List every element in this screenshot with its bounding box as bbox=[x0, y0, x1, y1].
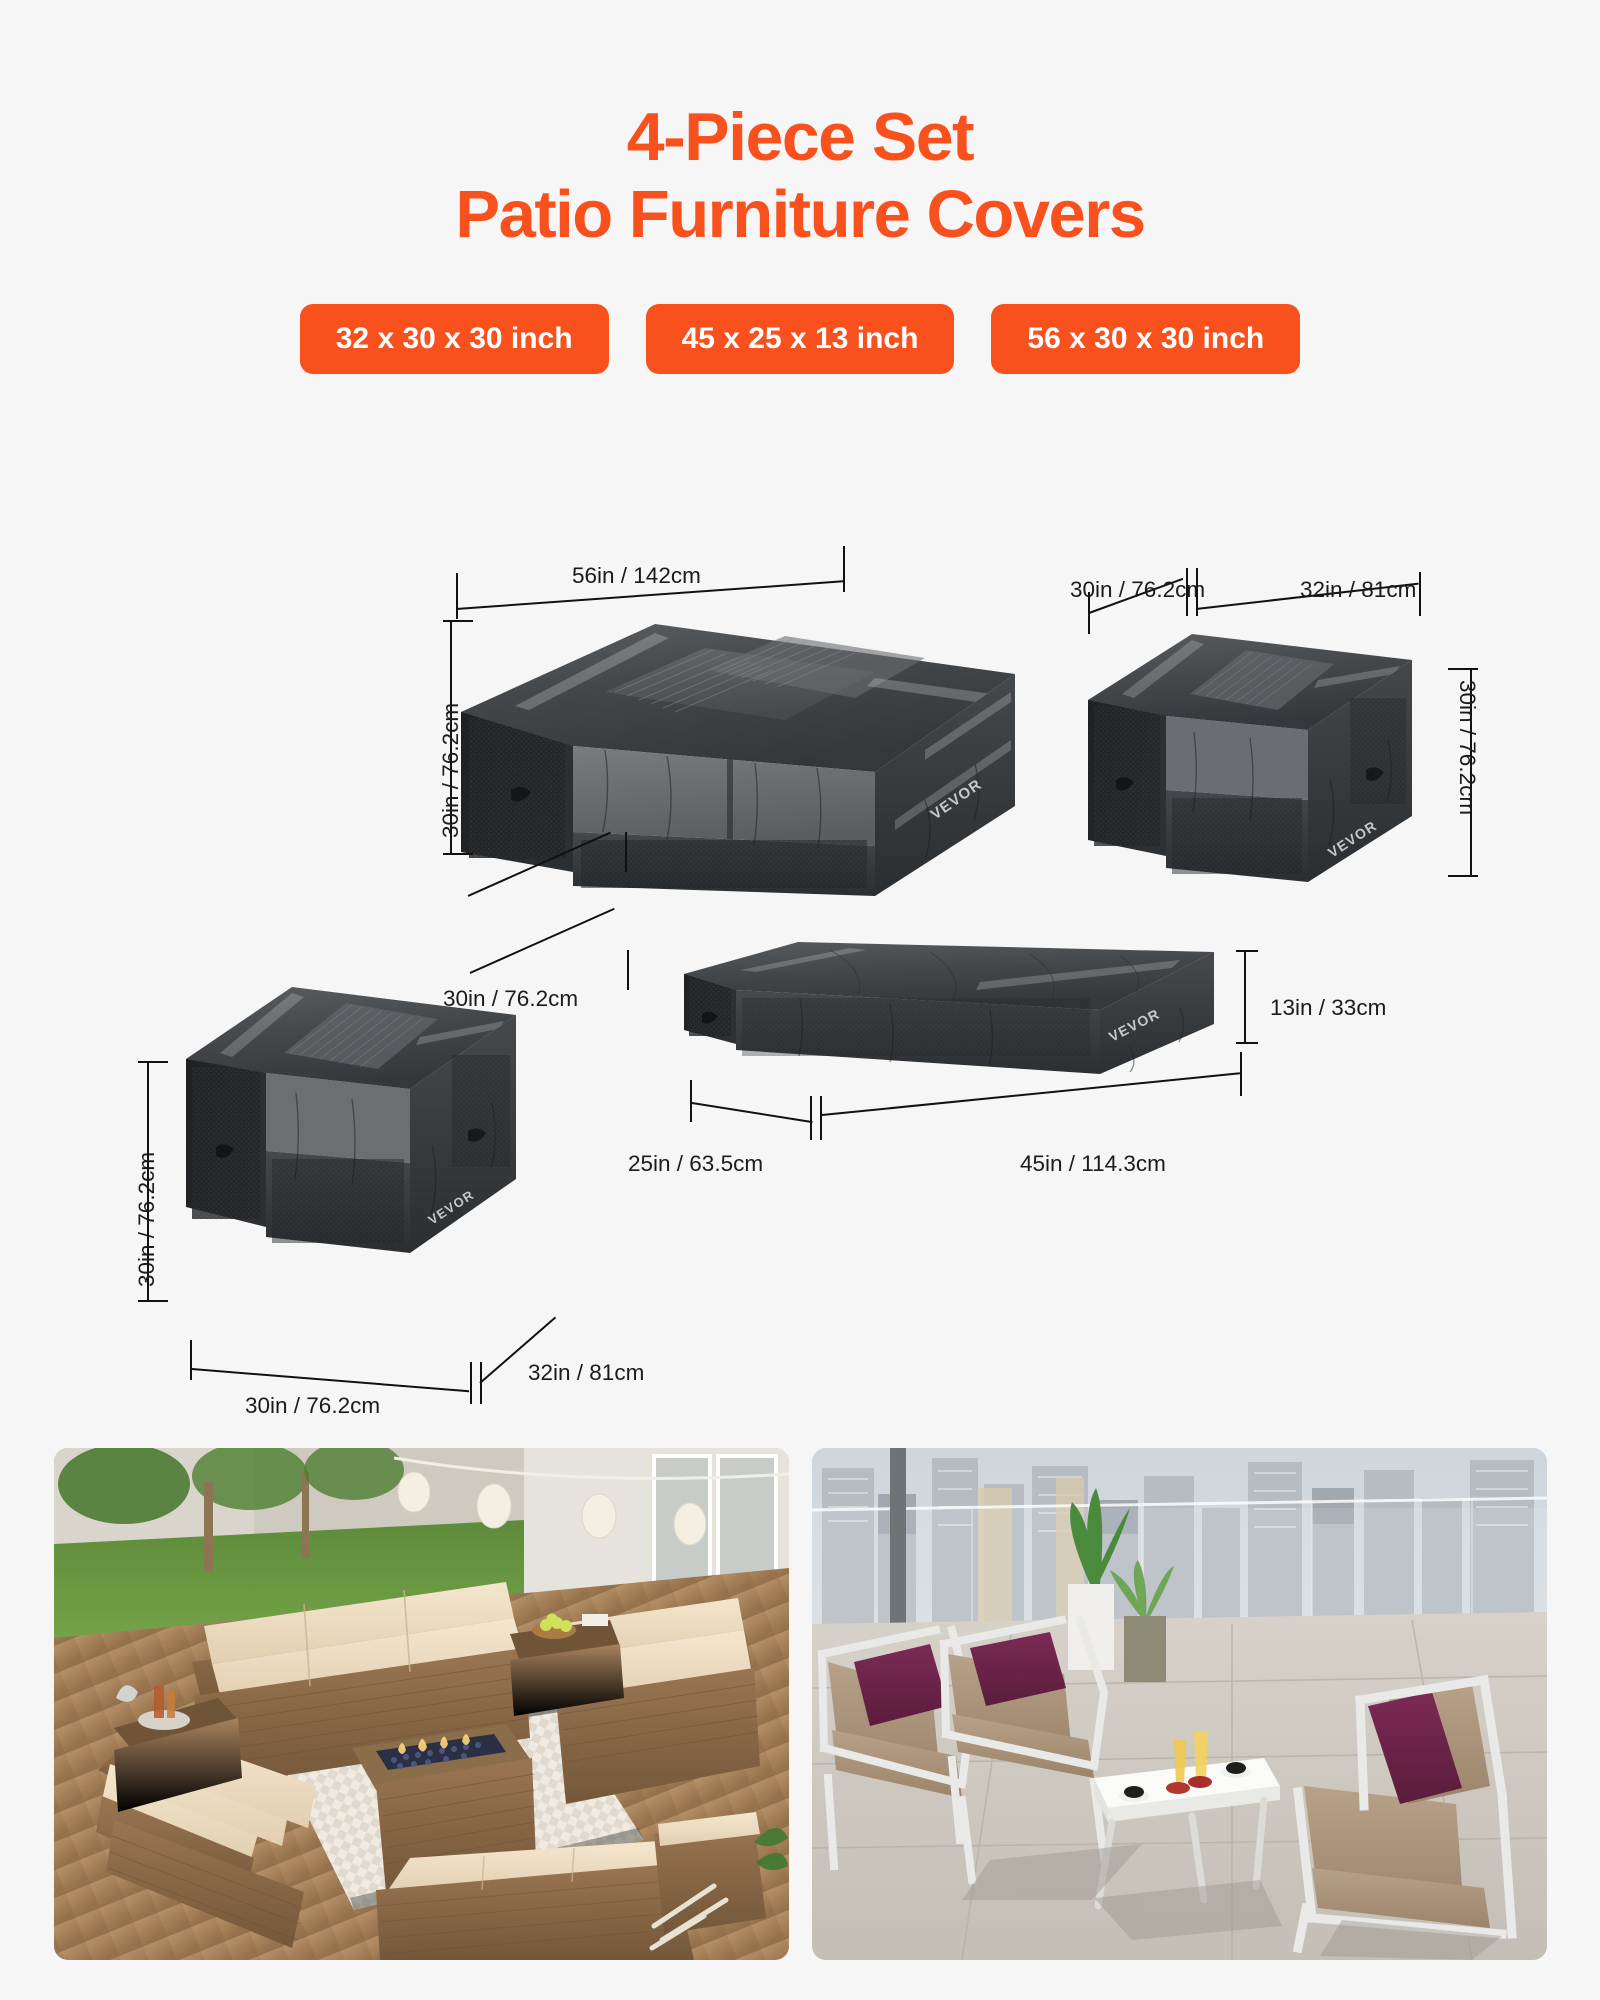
table-height-label: 13in / 33cm bbox=[1270, 995, 1386, 1021]
loveseat-depth-tick-2 bbox=[627, 950, 629, 990]
chair-right-height-tick-bottom bbox=[1448, 875, 1478, 877]
loveseat-width-tick-right bbox=[843, 546, 845, 592]
title-line-2: Patio Furniture Covers bbox=[0, 176, 1600, 254]
lifestyle-photo-row bbox=[0, 1448, 1600, 1960]
loveseat-width-label: 56in / 142cm bbox=[572, 563, 701, 589]
table-width-tick-right bbox=[1240, 1052, 1242, 1096]
size-badge-1: 32 x 30 x 30 inch bbox=[300, 304, 609, 374]
table-mid-tick-a bbox=[810, 1096, 812, 1140]
chair-right-depth-label: 30in / 76.2cm bbox=[1070, 577, 1205, 603]
photo-wicker-patio-set bbox=[54, 1448, 789, 1960]
loveseat-height-label: 30in / 76.2cm bbox=[438, 703, 464, 838]
loveseat-height-tick-top bbox=[443, 620, 473, 622]
table-height-tick-bottom bbox=[1236, 1042, 1258, 1044]
size-badge-2: 45 x 25 x 13 inch bbox=[646, 304, 955, 374]
chair-left-depth-label: 32in / 81cm bbox=[528, 1360, 644, 1386]
chair-right-width-label: 32in / 81cm bbox=[1300, 577, 1416, 603]
chair-cover-right: VEVOR bbox=[1082, 620, 1422, 910]
chair-right-height-tick-top bbox=[1448, 668, 1478, 670]
chair-left-width-label: 30in / 76.2cm bbox=[245, 1393, 380, 1419]
loveseat-height-tick-bottom bbox=[443, 853, 473, 855]
table-width-label: 45in / 114.3cm bbox=[1020, 1151, 1166, 1177]
loveseat-depth-tick bbox=[625, 832, 627, 872]
title-line-1: 4-Piece Set bbox=[0, 98, 1600, 176]
size-badge-3: 56 x 30 x 30 inch bbox=[991, 304, 1300, 374]
loveseat-cover: VEVOR bbox=[455, 600, 1035, 900]
page-title: 4-Piece Set Patio Furniture Covers bbox=[0, 0, 1600, 254]
chair-left-w-tick-l bbox=[190, 1340, 192, 1380]
loveseat-depth-line-2 bbox=[470, 908, 615, 974]
dimension-diagram: VEVOR 56in / 142cm 30in / 76.2cm 30in / … bbox=[0, 520, 1600, 1440]
chair-left-height-label: 30in / 76.2cm bbox=[134, 1152, 160, 1287]
table-height-tick-top bbox=[1236, 950, 1258, 952]
chair-cover-left: VEVOR bbox=[180, 975, 560, 1305]
loveseat-width-tick-left bbox=[456, 573, 458, 619]
chair-left-height-tick-top bbox=[138, 1061, 168, 1063]
size-badge-row: 32 x 30 x 30 inch 45 x 25 x 13 inch 56 x… bbox=[0, 304, 1600, 374]
photo-rooftop-terrace-set bbox=[812, 1448, 1547, 1960]
chair-left-width-line bbox=[192, 1368, 469, 1392]
chair-left-height-tick-bottom bbox=[138, 1300, 168, 1302]
table-height-line bbox=[1244, 950, 1246, 1044]
chair-left-mid-tick-a bbox=[470, 1362, 472, 1404]
chair-right-width-tick-right bbox=[1419, 572, 1421, 616]
table-depth-label: 25in / 63.5cm bbox=[628, 1151, 763, 1177]
chair-right-height-label: 30in / 76.2cm bbox=[1454, 680, 1480, 815]
table-mid-tick-b bbox=[820, 1096, 822, 1140]
